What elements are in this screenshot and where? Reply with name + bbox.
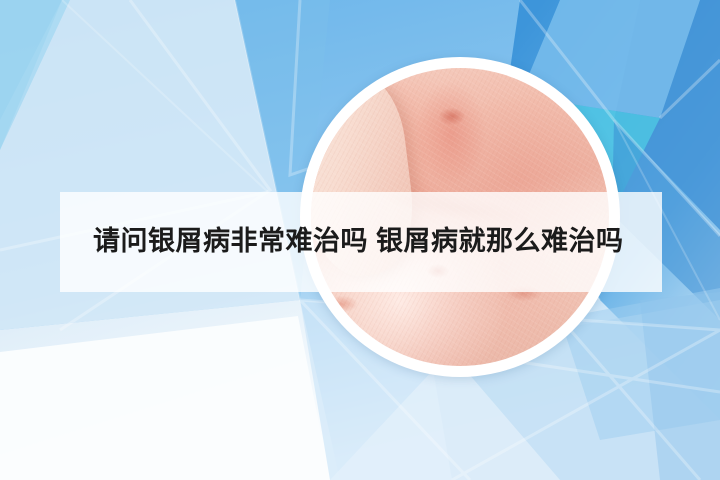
banner-title: 请问银屑病非常难治吗 银屑病就那么难治吗 <box>60 227 624 257</box>
banner-card: 请问银屑病非常难治吗 银屑病就那么难治吗 <box>0 0 720 480</box>
title-band: 请问银屑病非常难治吗 银屑病就那么难治吗 <box>60 192 662 292</box>
